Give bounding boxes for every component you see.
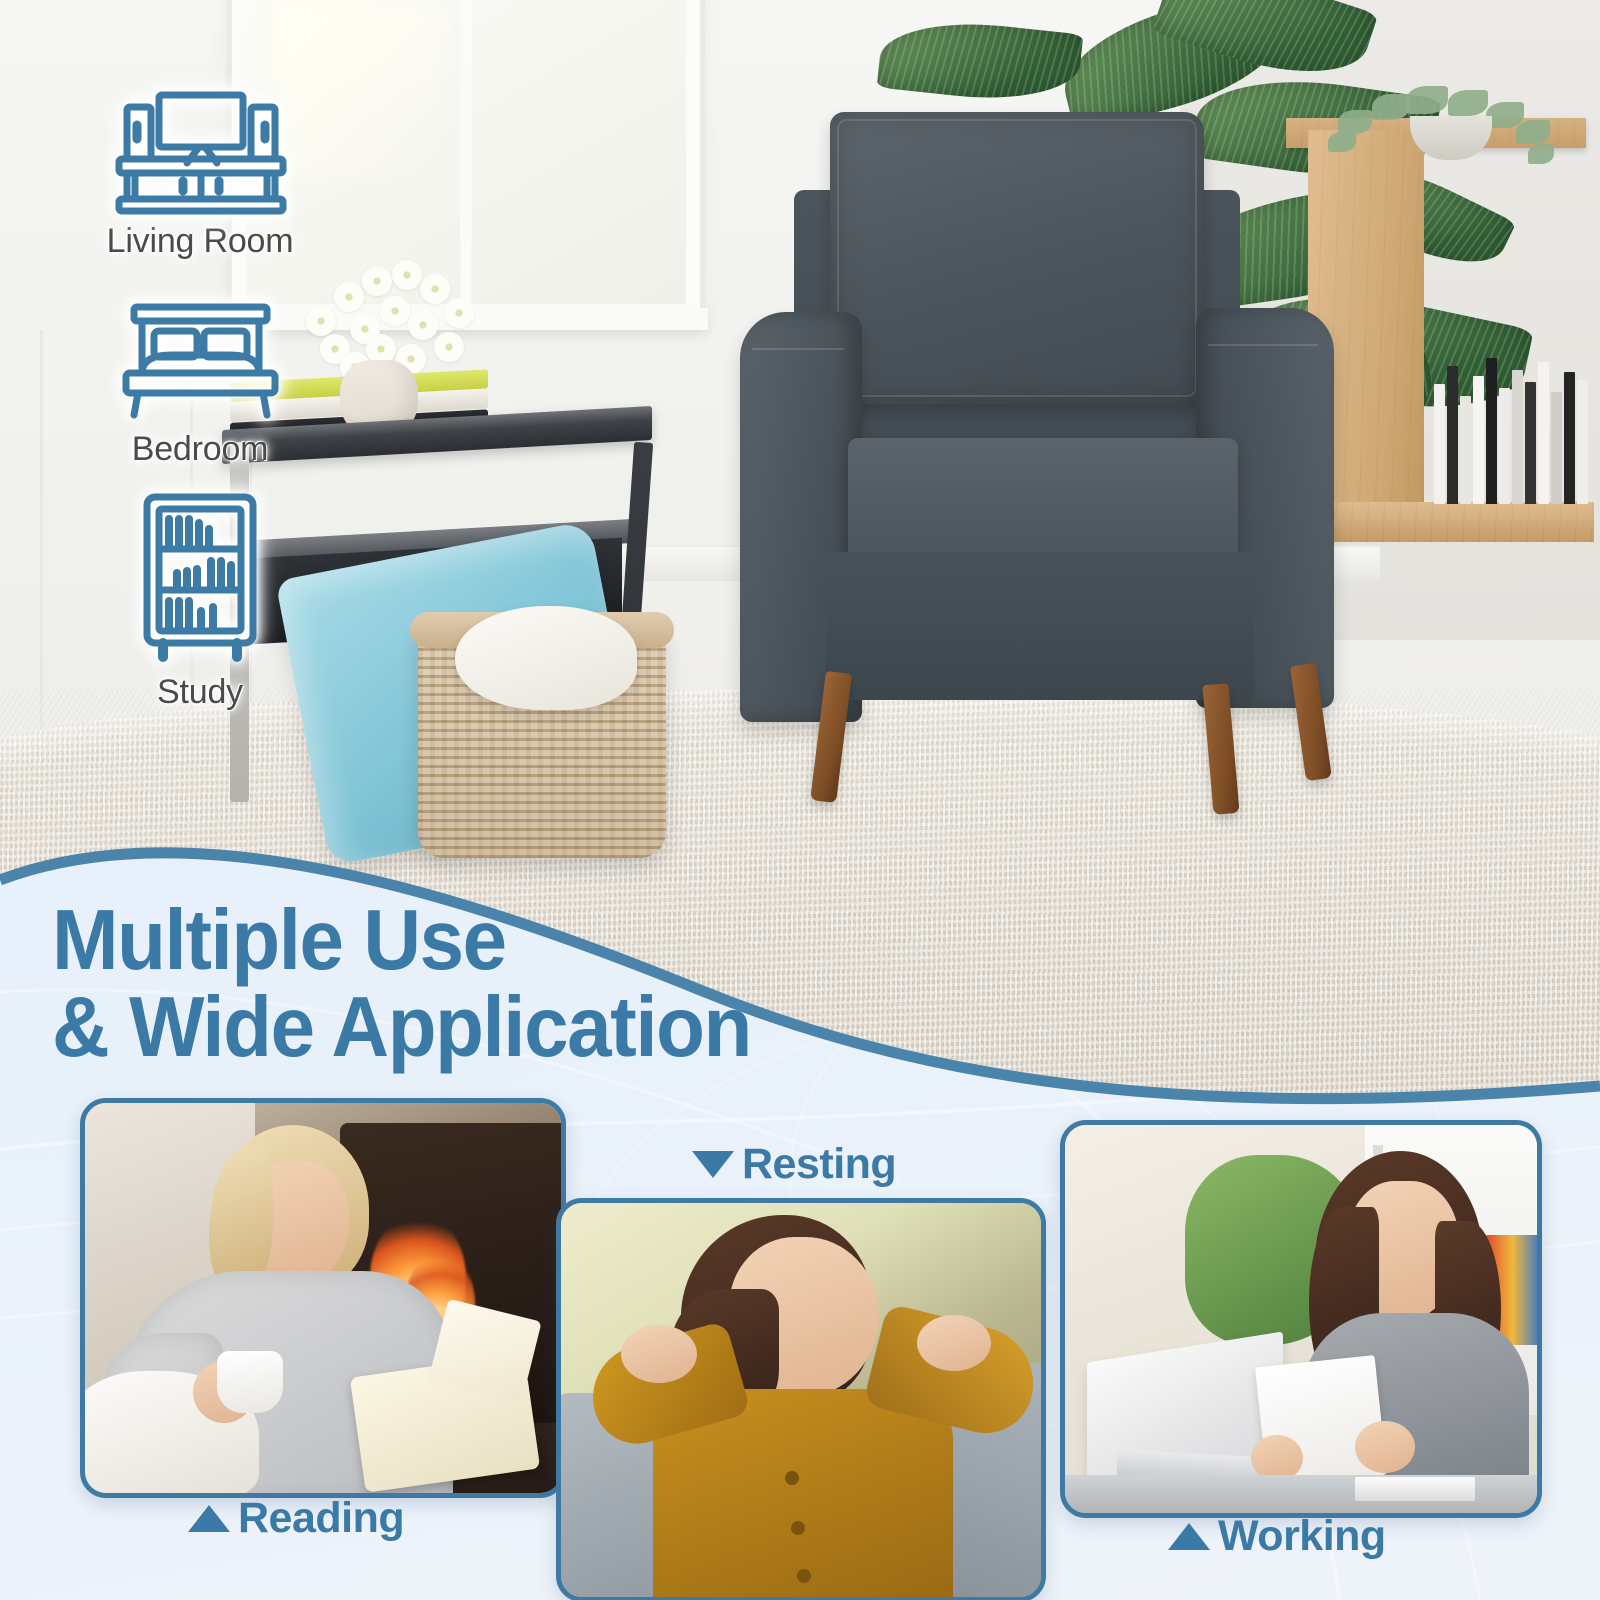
- room-tag-list: Living Room Bedroom: [70, 85, 330, 724]
- caption-label: Reading: [238, 1494, 404, 1543]
- caption-working: Working: [1168, 1512, 1386, 1561]
- caption-label: Working: [1218, 1512, 1386, 1561]
- bookshelf-icon: [70, 491, 330, 671]
- triangle-down-icon: [692, 1151, 734, 1178]
- room-tag-study: Study: [70, 491, 330, 712]
- room-tag-label: Bedroom: [70, 430, 330, 469]
- use-case-photo-working: [1060, 1120, 1542, 1518]
- headline-line-2: & Wide Application: [52, 985, 898, 1072]
- page-title: Multiple Use & Wide Application: [52, 898, 898, 1071]
- room-tag-label: Study: [70, 673, 330, 712]
- room-tag-label: Living Room: [70, 222, 330, 261]
- triangle-up-icon: [188, 1505, 230, 1532]
- working-photo: [1065, 1125, 1537, 1513]
- tv-stand-icon: [70, 85, 330, 220]
- room-tag-living-room: Living Room: [70, 85, 330, 261]
- product-infographic: Living Room Bedroom: [0, 0, 1600, 1600]
- use-case-photo-resting: [556, 1198, 1046, 1600]
- caption-label: Resting: [742, 1140, 896, 1189]
- use-case-photo-reading: [80, 1098, 566, 1498]
- reading-photo: [85, 1103, 561, 1493]
- headline-line-1: Multiple Use: [52, 898, 898, 985]
- room-tag-bedroom: Bedroom: [70, 301, 330, 469]
- caption-reading: Reading: [188, 1494, 404, 1543]
- bed-icon: [70, 301, 330, 428]
- caption-resting: Resting: [692, 1140, 896, 1189]
- resting-photo: [561, 1203, 1041, 1597]
- triangle-up-icon: [1168, 1523, 1210, 1550]
